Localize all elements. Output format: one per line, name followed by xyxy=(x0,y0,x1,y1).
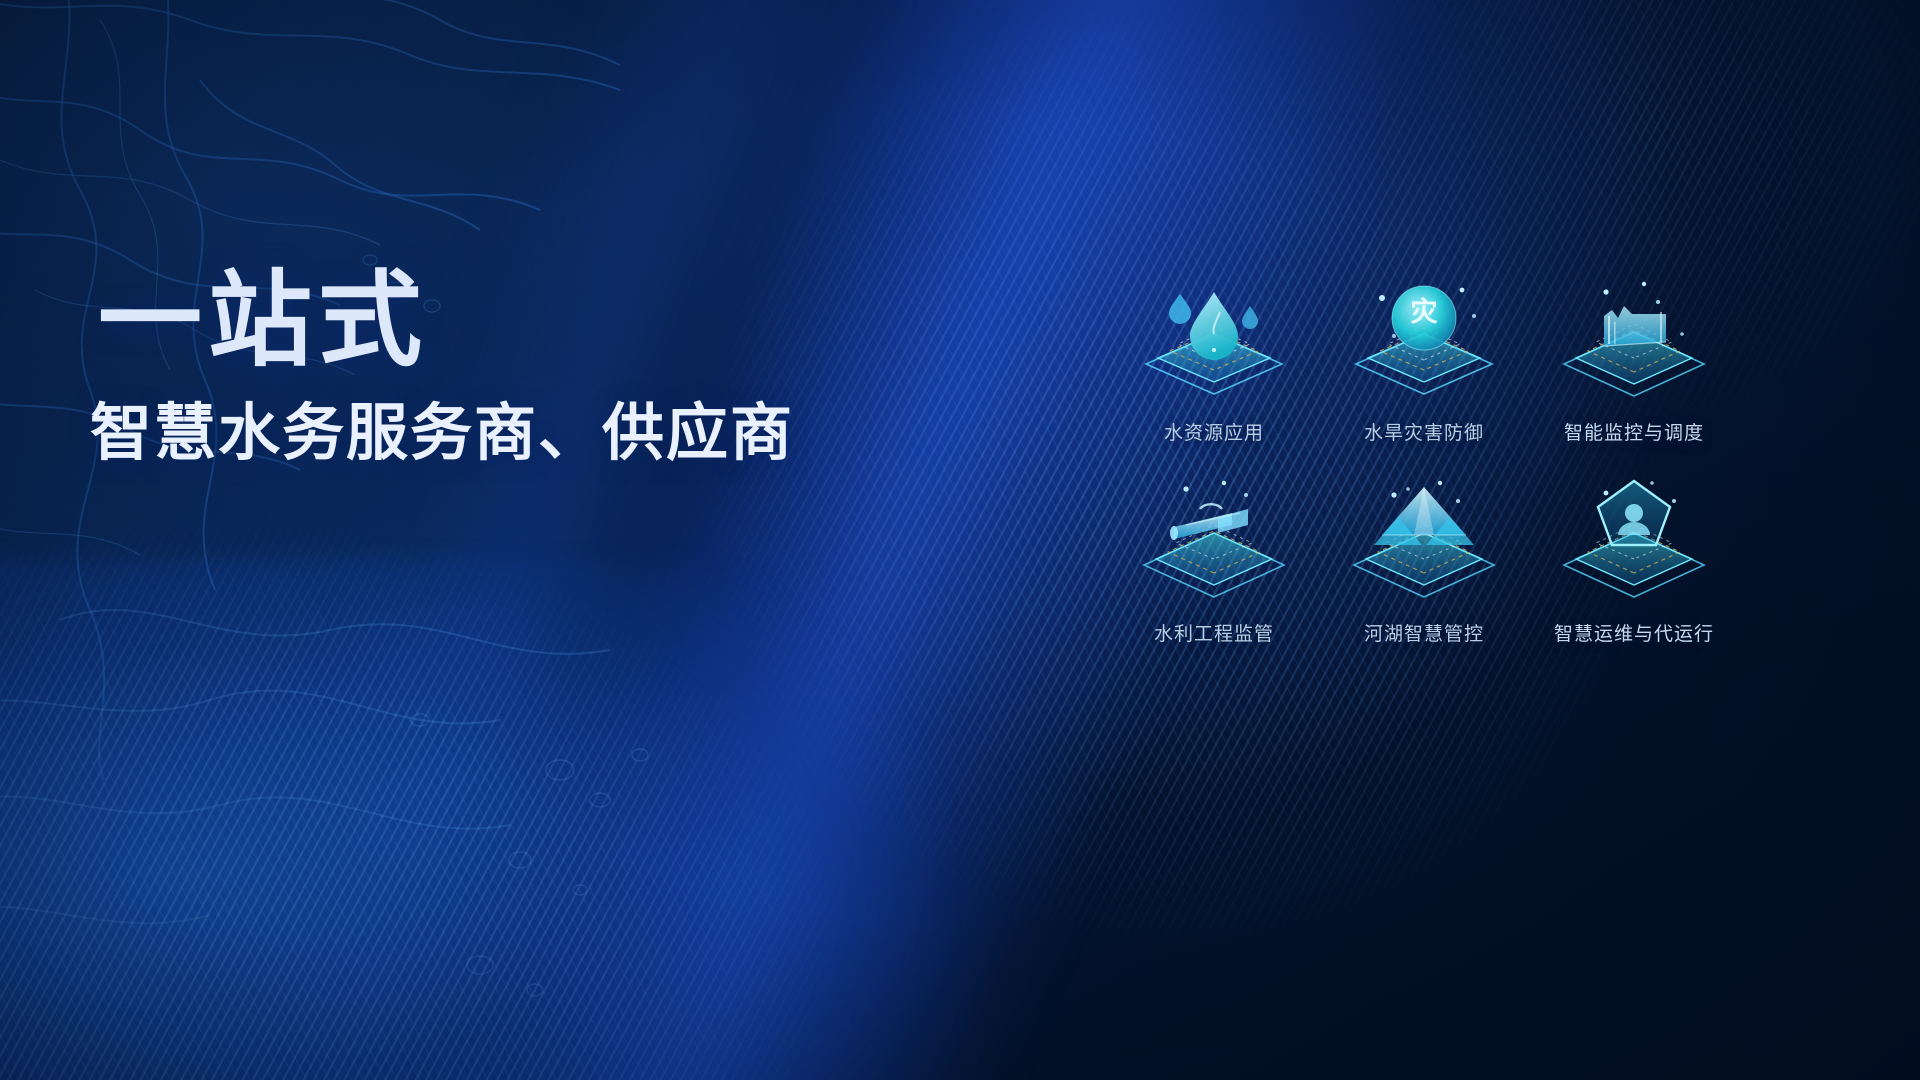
service-card-river-lake-control[interactable]: 河湖智慧管控 xyxy=(1338,473,1510,646)
water-drop-icon xyxy=(1128,272,1300,412)
page-title: 一站式 xyxy=(98,268,858,374)
slide-canvas: 一站式 智慧水务服务商、供应商 xyxy=(0,0,1920,1080)
service-card-water-resource[interactable]: 水资源应用 xyxy=(1128,272,1300,445)
service-card-monitoring-dispatch[interactable]: 智能监控与调度 xyxy=(1548,272,1720,445)
service-label: 智能监控与调度 xyxy=(1564,418,1704,445)
hero-text-block: 一站式 智慧水务服务商、供应商 xyxy=(98,268,858,468)
service-label: 水资源应用 xyxy=(1164,418,1264,445)
service-card-smart-ops[interactable]: 智慧运维与代运行 xyxy=(1548,473,1720,646)
service-label: 水利工程监管 xyxy=(1154,619,1274,646)
disaster-sphere-icon: 灾 xyxy=(1338,272,1510,412)
dam-monitor-icon xyxy=(1548,272,1720,412)
service-card-engineering-supervision[interactable]: 水利工程监管 xyxy=(1128,473,1300,646)
service-grid: 水资源应用 xyxy=(1128,272,1720,646)
service-label: 河湖智慧管控 xyxy=(1364,619,1484,646)
mountain-river-icon xyxy=(1338,473,1510,613)
pipeline-icon xyxy=(1128,473,1300,613)
service-card-flood-drought[interactable]: 灾 水旱灾害防御 xyxy=(1338,272,1510,445)
service-label: 水旱灾害防御 xyxy=(1364,418,1484,445)
shield-pentagon-icon xyxy=(1548,473,1720,613)
service-label: 智慧运维与代运行 xyxy=(1554,619,1714,646)
page-subtitle: 智慧水务服务商、供应商 xyxy=(90,400,858,468)
